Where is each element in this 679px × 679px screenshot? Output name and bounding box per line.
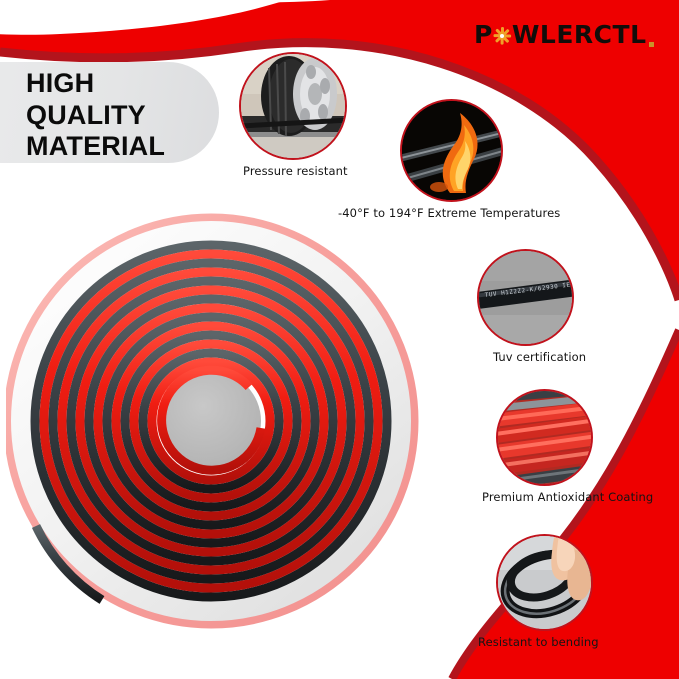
- feature-label-antioxidant-coating: Premium Antioxidant Coating: [482, 490, 653, 504]
- cable-print-marking-photo: TUV H1Z2Z2-K/62930 IEC 1: [477, 249, 574, 346]
- brand-name-rest: WLERCTL: [512, 20, 647, 49]
- brand-logo: P WLERCTL: [474, 20, 654, 49]
- red-cable-bundle-closeup-photo: [496, 389, 593, 486]
- feature-pressure-resistant[interactable]: Pressure resistant: [239, 52, 347, 160]
- car-tire-over-cable-photo: [239, 52, 347, 160]
- headline-line-2: QUALITY: [26, 100, 165, 132]
- feature-extreme-temperatures[interactable]: -40°F to 194°F Extreme Temperatures: [400, 99, 503, 202]
- feature-label-pressure-resistant: Pressure resistant: [243, 164, 348, 178]
- headline-line-1: HIGH: [26, 68, 165, 100]
- feature-label-extreme-temperatures: -40°F to 194°F Extreme Temperatures: [338, 206, 560, 220]
- brand-name-first: P: [474, 20, 493, 49]
- hand-bending-cable-loop-photo: [496, 534, 593, 631]
- feature-antioxidant-coating[interactable]: Premium Antioxidant Coating: [496, 389, 593, 486]
- headline-line-3: MATERIAL: [26, 131, 165, 163]
- feature-resistant-to-bending[interactable]: Resistant to bending: [496, 534, 593, 631]
- feature-tuv-certification[interactable]: TUV H1Z2Z2-K/62930 IEC 1 Tuv certificati…: [477, 249, 574, 346]
- product-wire-spool: [6, 196, 426, 636]
- flame-on-cable-photo: [400, 99, 503, 202]
- sun-burst-icon: [494, 27, 511, 44]
- product-infographic: P WLERCTL HIGH QUALITY MATERIAL: [0, 0, 679, 679]
- feature-label-tuv-certification: Tuv certification: [493, 350, 586, 364]
- feature-label-resistant-to-bending: Resistant to bending: [478, 635, 599, 649]
- page-title: HIGH QUALITY MATERIAL: [26, 68, 165, 163]
- brand-mark-square: [649, 42, 654, 47]
